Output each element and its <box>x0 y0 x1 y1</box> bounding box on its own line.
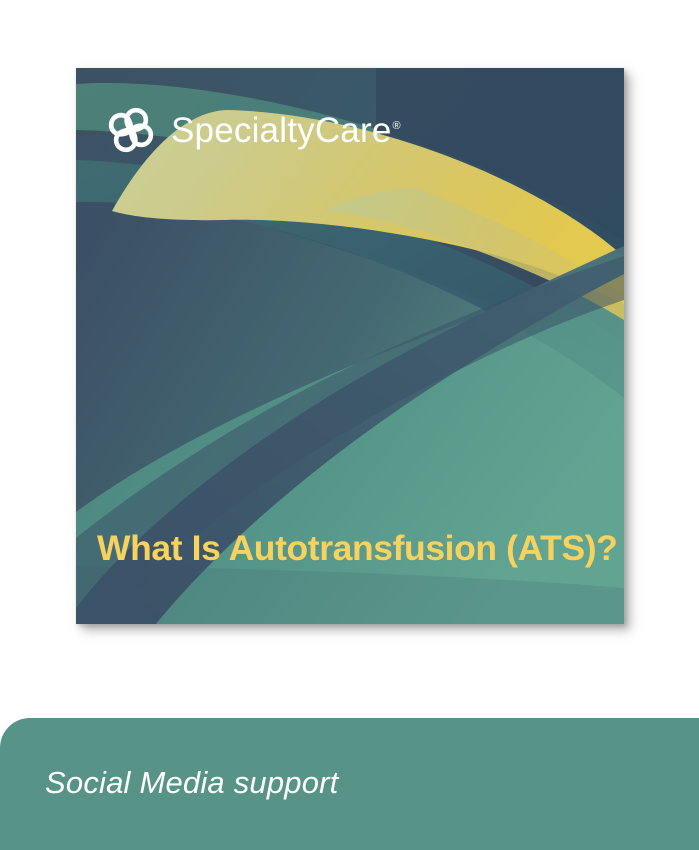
caption-panel: Social Media support <box>0 718 699 850</box>
card-title: What Is Autotransfusion (ATS)? <box>97 530 617 567</box>
logo-lockup: SpecialtyCare® <box>100 100 401 160</box>
logo-wordmark: SpecialtyCare® <box>171 113 401 148</box>
card-canvas[interactable]: SpecialtyCare® What Is Autotransfusion (… <box>76 68 624 624</box>
caption-label: Social Media support <box>45 765 339 801</box>
logo-wordmark-text: SpecialtyCare <box>171 111 391 150</box>
registered-trademark-icon: ® <box>392 120 400 132</box>
artwork-card[interactable]: SpecialtyCare® What Is Autotransfusion (… <box>76 68 624 624</box>
specialtycare-knot-logo-icon <box>100 99 162 161</box>
